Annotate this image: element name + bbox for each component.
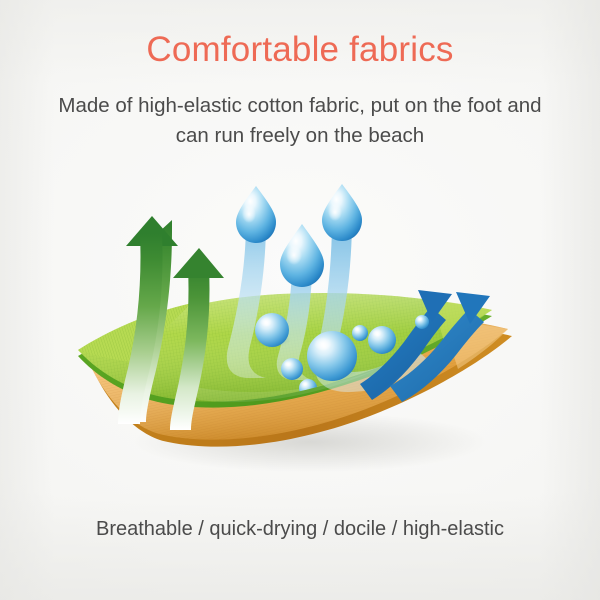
subtitle-line-2: can run freely on the beach bbox=[176, 124, 424, 147]
droplet-surface-small-4 bbox=[415, 315, 429, 329]
droplet-airborne-3 bbox=[280, 224, 324, 287]
droplet-surface-small-3 bbox=[352, 325, 368, 341]
droplet-surface-small-1 bbox=[281, 358, 303, 380]
droplet-airborne-1 bbox=[236, 186, 276, 243]
promo-page: Comfortable fabrics Made of high-elastic… bbox=[0, 0, 600, 600]
page-title: Comfortable fabrics bbox=[0, 28, 600, 72]
feature-caption: Breathable / quick-drying / docile / hig… bbox=[0, 515, 600, 543]
droplet-airborne-2 bbox=[322, 184, 362, 241]
subtitle-line-1: Made of high-elastic cotton fabric, put … bbox=[58, 94, 541, 117]
fabric-illustration bbox=[60, 170, 540, 500]
page-subtitle: Made of high-elastic cotton fabric, put … bbox=[26, 91, 574, 151]
